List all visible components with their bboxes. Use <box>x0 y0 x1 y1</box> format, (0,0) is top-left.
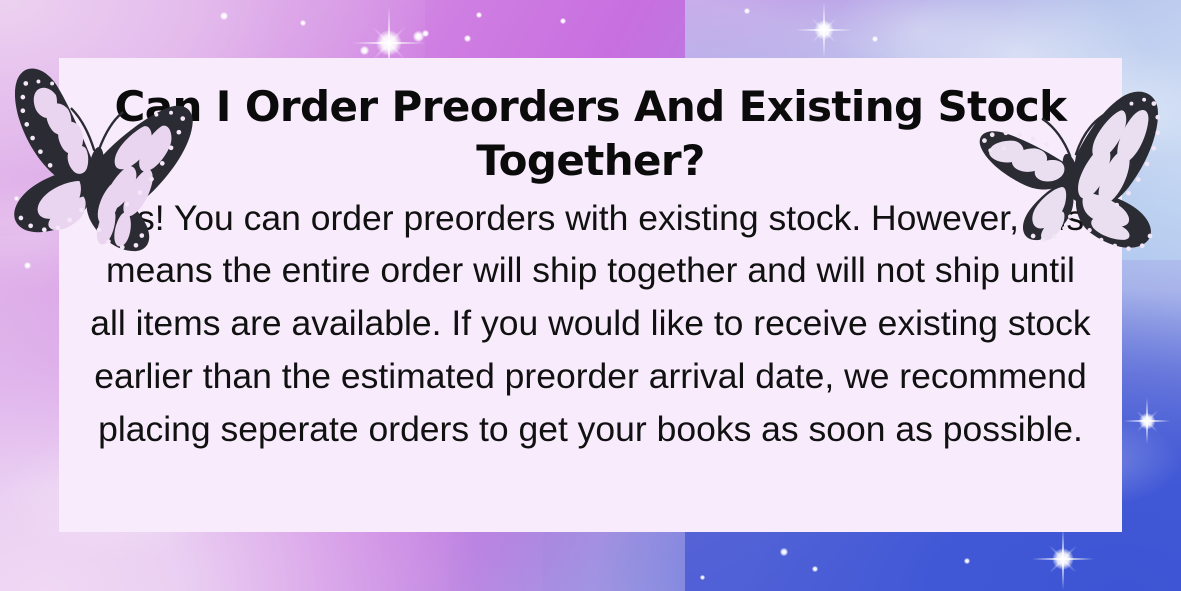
faq-answer-text: Yes! You can order preorders with existi… <box>89 192 1092 456</box>
faq-graphic: Can I Order Preorders And Existing Stock… <box>0 0 1181 591</box>
page-title: Can I Order Preorders And Existing Stock… <box>89 80 1092 188</box>
faq-card: Can I Order Preorders And Existing Stock… <box>59 58 1122 532</box>
